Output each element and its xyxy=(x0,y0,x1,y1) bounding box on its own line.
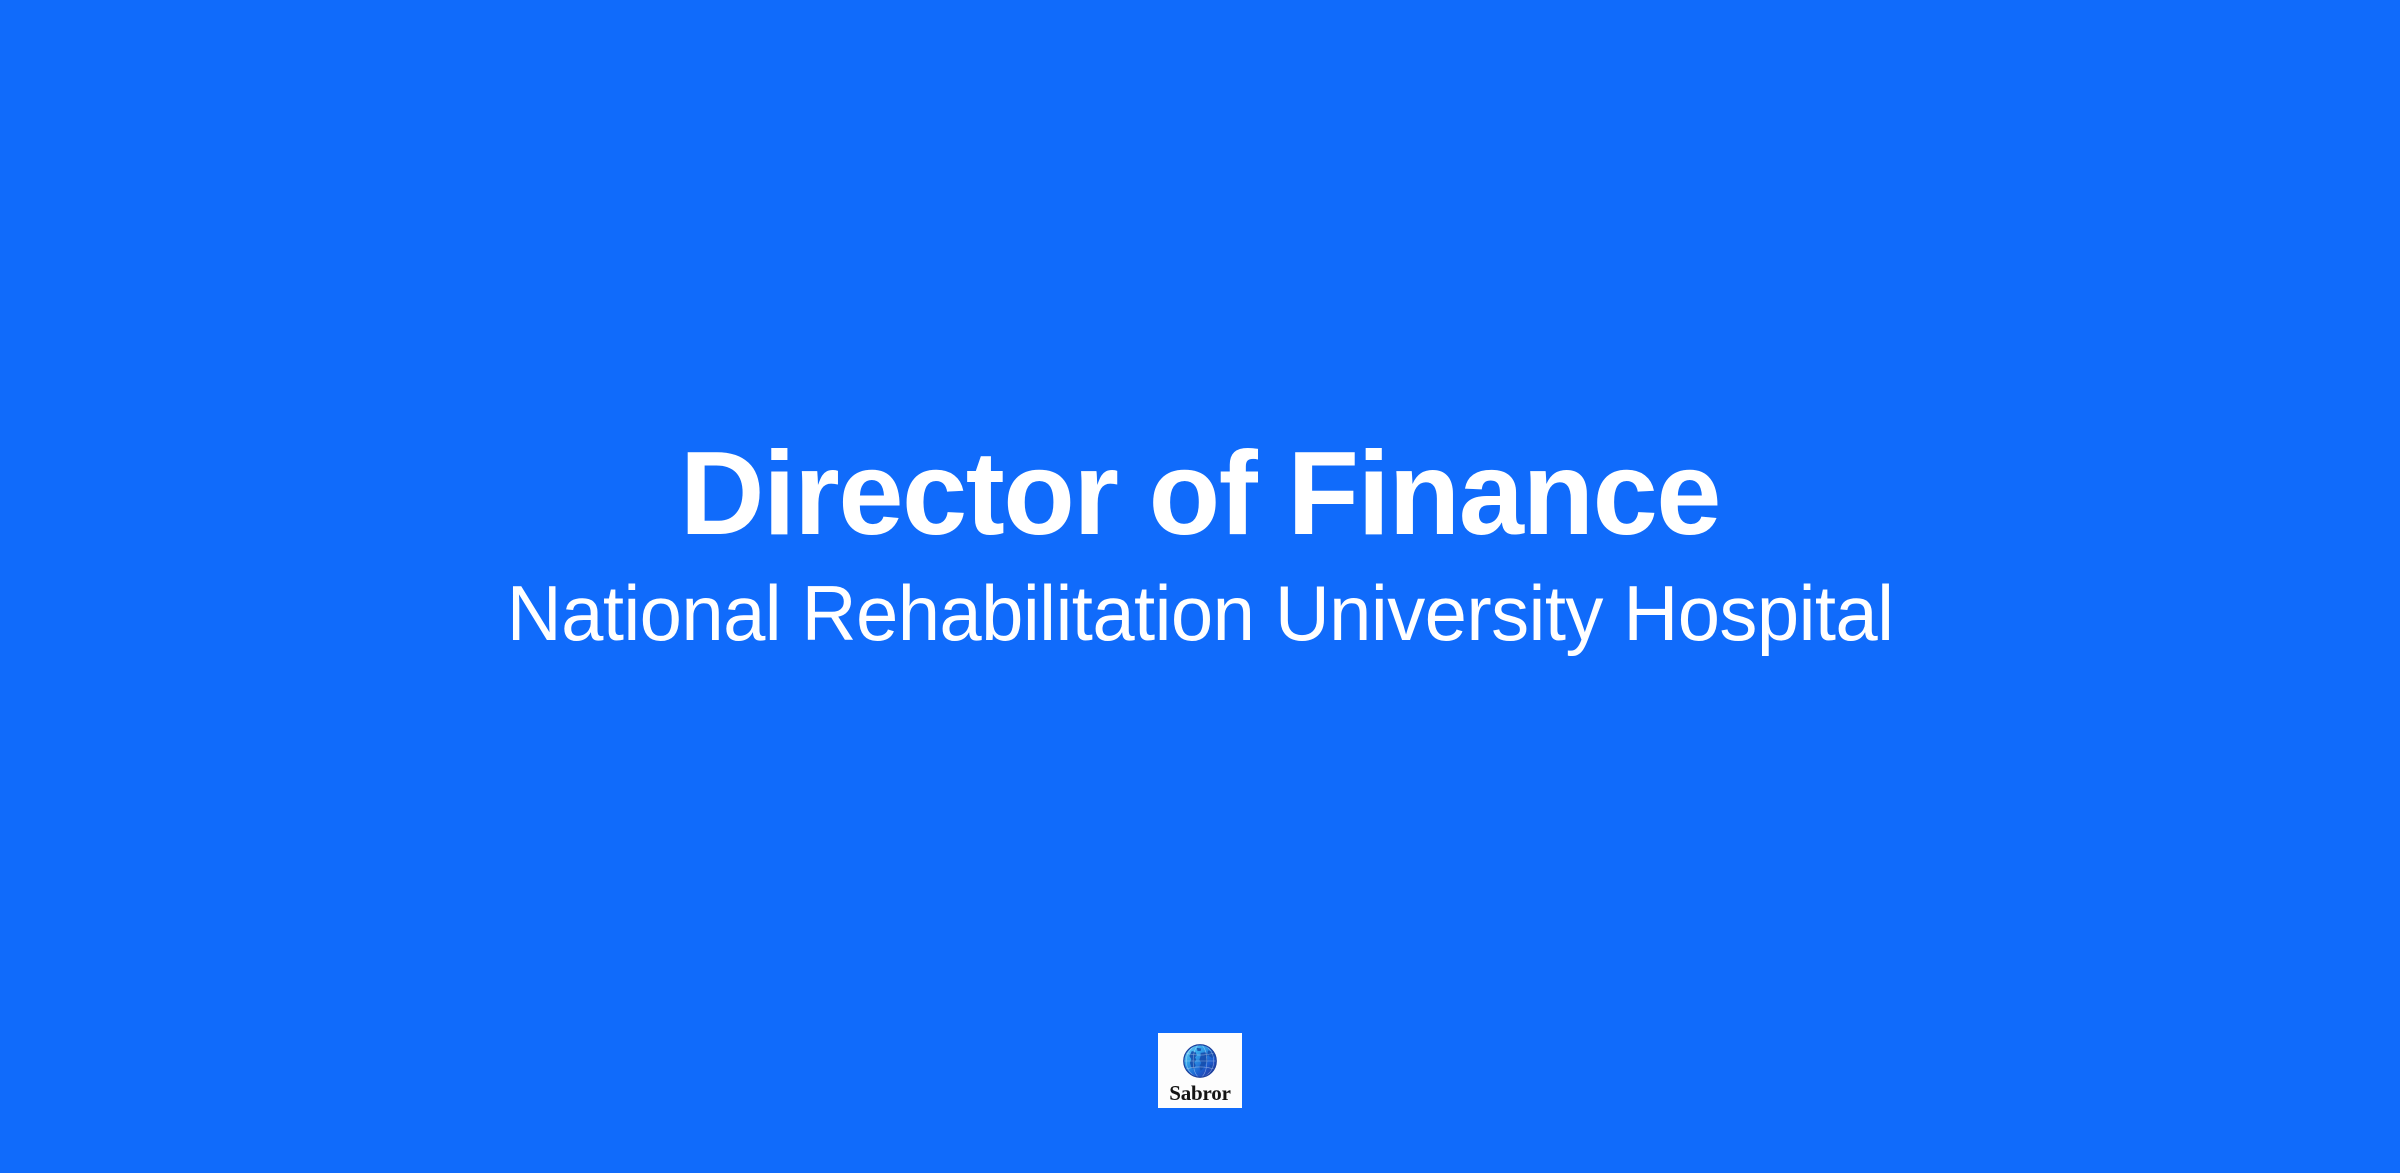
organization-name: National Rehabilitation University Hospi… xyxy=(507,569,1894,659)
hero-text-block: Director of Finance National Rehabilitat… xyxy=(0,0,2400,1173)
globe-icon xyxy=(1180,1041,1220,1081)
job-posting-hero: Director of Finance National Rehabilitat… xyxy=(0,0,2400,1173)
brand-wordmark: Sabror xyxy=(1169,1083,1230,1104)
job-title: Director of Finance xyxy=(680,434,1720,553)
brand-logo[interactable]: Sabror xyxy=(1158,1033,1242,1108)
